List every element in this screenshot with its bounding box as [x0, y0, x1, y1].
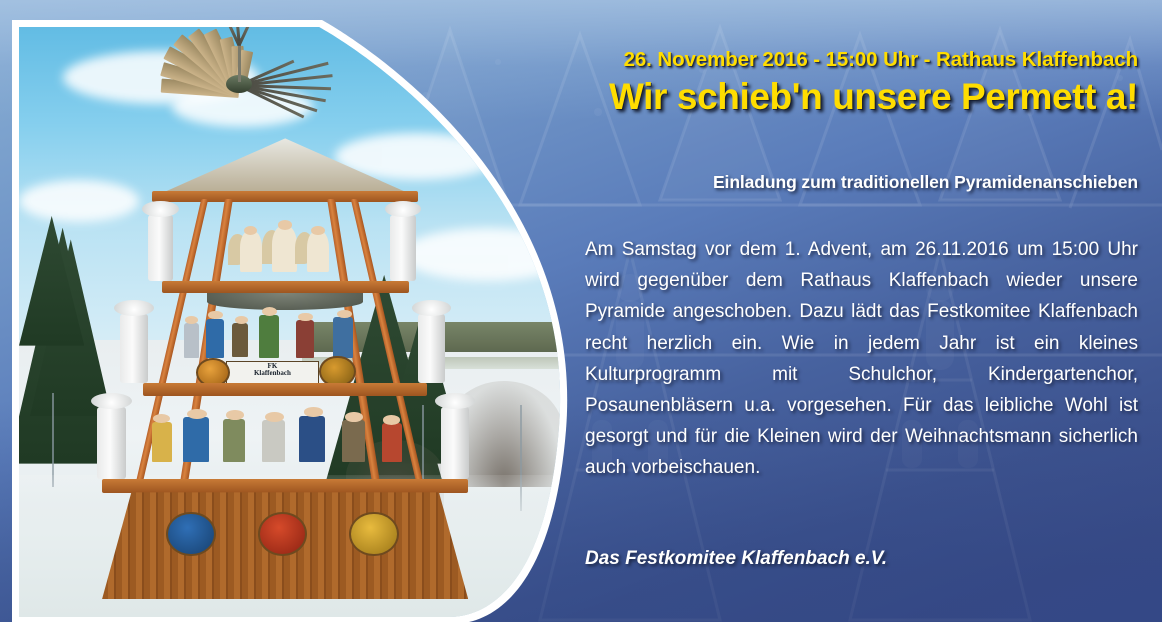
text-column: 26. November 2016 - 15:00 Uhr - Rathaus … [0, 0, 1162, 640]
bottom-white-strip [0, 622, 1162, 640]
subtitle: Einladung zum traditionellen Pyramidenan… [585, 172, 1138, 193]
event-kicker: 26. November 2016 - 15:00 Uhr - Rathaus … [585, 48, 1138, 72]
body-paragraph: Am Samstag vor dem 1. Advent, am 26.11.2… [585, 234, 1138, 484]
signature-line: Das Festkomitee Klaffenbach e.V. [585, 548, 1138, 570]
body-text: Am Samstag vor dem 1. Advent, am 26.11.2… [585, 234, 1138, 484]
page-title: Wir schieb'n unsere Permett a! [500, 76, 1138, 118]
poster-root: FK Klaffenbach [0, 0, 1162, 640]
